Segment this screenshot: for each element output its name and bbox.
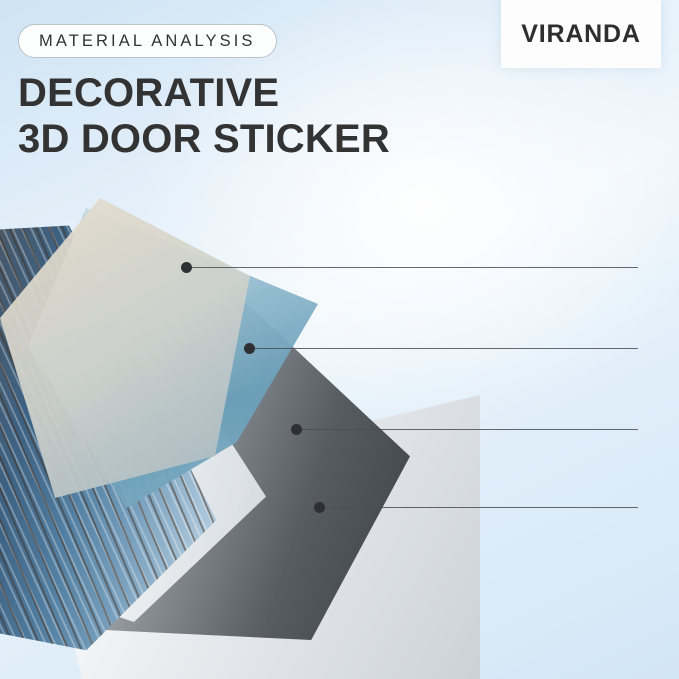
callout-leader-line: [255, 348, 638, 349]
callout-dot-icon: [181, 262, 192, 273]
callout-leader-line: [302, 429, 638, 430]
callout-leader-line: [325, 507, 638, 508]
eyebrow-label: MATERIAL ANALYSIS: [39, 33, 256, 50]
title-line-1: DECORATIVE: [18, 70, 498, 116]
brand-name: VIRANDA: [521, 22, 641, 47]
material-analysis-poster: MATERIAL ANALYSIS DECORATIVE 3D DOOR STI…: [0, 0, 679, 679]
callout-dot-icon: [244, 343, 255, 354]
title-line-2: 3D DOOR STICKER: [18, 116, 498, 162]
callout-leader-line: [192, 267, 638, 268]
brand-logo-box: VIRANDA: [501, 0, 661, 68]
callout-dot-icon: [314, 502, 325, 513]
callout-dot-icon: [291, 424, 302, 435]
page-title: DECORATIVE 3D DOOR STICKER: [18, 70, 498, 162]
eyebrow-pill: MATERIAL ANALYSIS: [18, 24, 277, 58]
